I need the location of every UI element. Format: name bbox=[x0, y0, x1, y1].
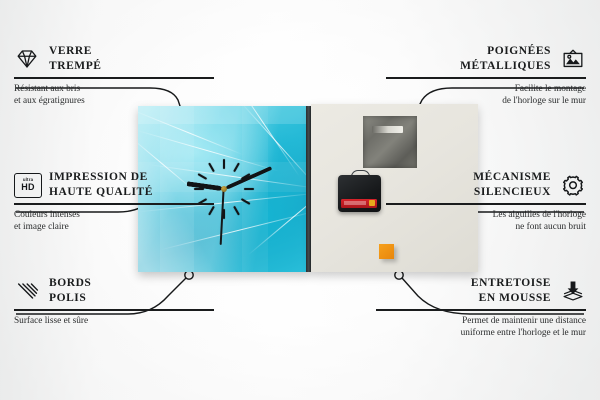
battery bbox=[341, 199, 377, 208]
divider bbox=[14, 77, 214, 78]
divider bbox=[14, 203, 214, 204]
feature-impression-haute-qualite: ultra HD IMPRESSION DE HAUTE QUALITÉ Cou… bbox=[14, 170, 214, 233]
divider bbox=[386, 77, 586, 78]
feature-verre-trempe: VERRE TREMPÉ Résistant aux bris et aux é… bbox=[14, 44, 214, 107]
picture-frame-hanger-icon bbox=[560, 47, 586, 71]
feature-title: MÉCANISME SILENCIEUX bbox=[473, 170, 551, 199]
divider bbox=[14, 309, 214, 310]
feature-title: ENTRETOISE EN MOUSSE bbox=[471, 276, 551, 305]
metal-hanger-plate bbox=[363, 116, 417, 168]
feature-title: BORDS POLIS bbox=[49, 276, 91, 305]
feature-subtitle: Surface lisse et sûre bbox=[14, 315, 214, 327]
feature-subtitle: Les aiguilles de l'horloge ne font aucun… bbox=[386, 209, 586, 234]
divider bbox=[376, 309, 586, 310]
feature-subtitle: Résistant aux bris et aux égratignures bbox=[14, 83, 214, 108]
feature-subtitle: Permet de maintenir une distance uniform… bbox=[376, 315, 586, 340]
feature-entretoise-en-mousse: ENTRETOISE EN MOUSSE Permet de maintenir… bbox=[376, 276, 586, 339]
diamond-icon bbox=[14, 47, 40, 71]
quartz-mechanism bbox=[338, 170, 381, 212]
ultra-hd-icon: ultra HD bbox=[14, 173, 40, 197]
foam-spacer bbox=[379, 244, 394, 259]
infographic-canvas: VERRE TREMPÉ Résistant aux bris et aux é… bbox=[0, 0, 600, 400]
feature-title: POIGNÉES MÉTALLIQUES bbox=[460, 44, 551, 73]
feature-title: IMPRESSION DE HAUTE QUALITÉ bbox=[49, 170, 153, 199]
gear-icon bbox=[560, 173, 586, 197]
feature-poignees-metalliques: POIGNÉES MÉTALLIQUES Facilite le montage… bbox=[386, 44, 586, 107]
polished-edge-icon bbox=[14, 279, 40, 303]
divider bbox=[386, 203, 586, 204]
clock-center-cap bbox=[221, 186, 227, 192]
feature-subtitle: Facilite le montage de l'horloge sur le … bbox=[386, 83, 586, 108]
hanger-slot bbox=[372, 126, 403, 133]
feature-title: VERRE TREMPÉ bbox=[49, 44, 102, 73]
feature-subtitle: Couleurs intenses et image claire bbox=[14, 209, 214, 234]
feature-mecanisme-silencieux: MÉCANISME SILENCIEUX Les aiguilles de l'… bbox=[386, 170, 586, 233]
feature-bords-polis: BORDS POLIS Surface lisse et sûre bbox=[14, 276, 214, 327]
press-down-foam-icon bbox=[560, 279, 586, 303]
mechanism-body bbox=[338, 175, 381, 212]
